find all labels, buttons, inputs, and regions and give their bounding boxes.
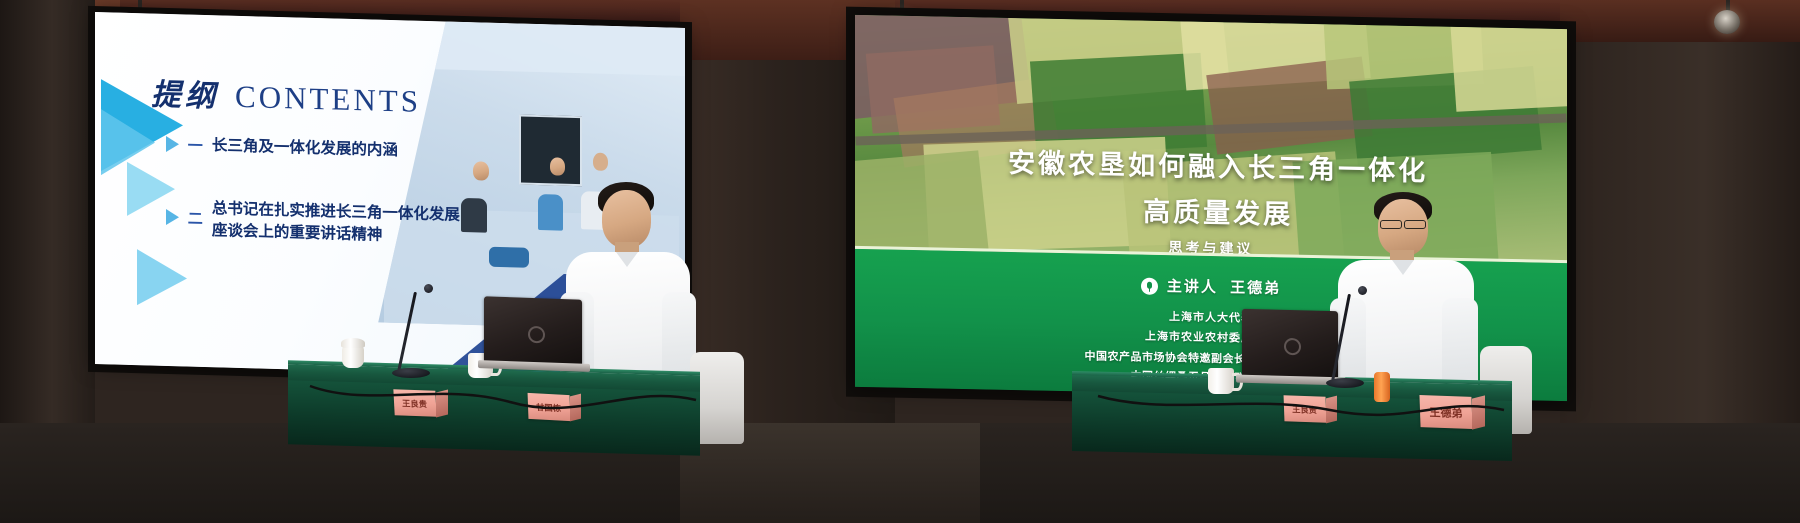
field-patch [1450, 15, 1567, 112]
slide-title-en: CONTENTS [235, 79, 421, 120]
microphone-right [1326, 286, 1374, 392]
wall-panel-right [1560, 0, 1800, 430]
item-text: 长三角及一体化发展的内涵 [212, 135, 398, 162]
glasses-icon [1380, 220, 1402, 229]
glasses-icon [1404, 220, 1426, 229]
microphone-base [392, 368, 430, 378]
collar [616, 252, 638, 267]
microphone-head-icon [424, 284, 433, 293]
laptop-screen [484, 296, 582, 365]
item-text-block: 总书记在扎实推进长三角一体化发展 座谈会上的重要讲话精神 [212, 198, 460, 249]
speaker-label: 主讲人 [1167, 278, 1218, 296]
slide-title-cn: 提纲 [151, 70, 219, 116]
microphone-stem [397, 292, 417, 371]
microphone-base [1326, 378, 1364, 388]
cable-left [300, 378, 700, 414]
spotlight-icon [1714, 10, 1740, 34]
head [602, 190, 651, 248]
microphone-stem [1331, 294, 1351, 381]
laptop-screen [1242, 309, 1338, 380]
photo-person-head [473, 162, 489, 181]
photo-person-body [538, 194, 563, 231]
photo-ceiling [397, 20, 685, 76]
wall-wood-trim-right [1560, 0, 1800, 42]
photo-person-head [593, 153, 608, 171]
conference-hall-scene: 提纲 CONTENTS 一 长三角及一体化发展的内涵 二 总书记在扎实推进长三角… [0, 0, 1800, 523]
laptop-brand-logo-icon [1284, 338, 1301, 355]
slide-content-item-2: 二 总书记在扎实推进长三角一体化发展 座谈会上的重要讲话精神 [166, 197, 460, 249]
item-number: 一 [188, 134, 203, 157]
laptop-brand-logo-icon [528, 326, 545, 344]
photo-monitor [519, 114, 581, 186]
bullet-triangle-icon [166, 209, 179, 225]
laptop-left[interactable] [478, 298, 586, 376]
speaker-name: 王德弟 [1230, 279, 1281, 297]
collar [1392, 260, 1414, 275]
decorative-triangle-icon [133, 245, 207, 313]
cable-right [1090, 390, 1510, 422]
microphone-left [392, 284, 436, 380]
microphone-head-icon [1358, 286, 1367, 295]
teacup-lid [341, 338, 365, 348]
item-number: 二 [188, 198, 203, 231]
microphone-icon [1141, 278, 1158, 295]
bullet-triangle-icon [166, 136, 179, 152]
teacup [342, 346, 364, 368]
photo-person-head [550, 158, 565, 176]
slide-title-row: 提纲 CONTENTS [151, 70, 421, 121]
